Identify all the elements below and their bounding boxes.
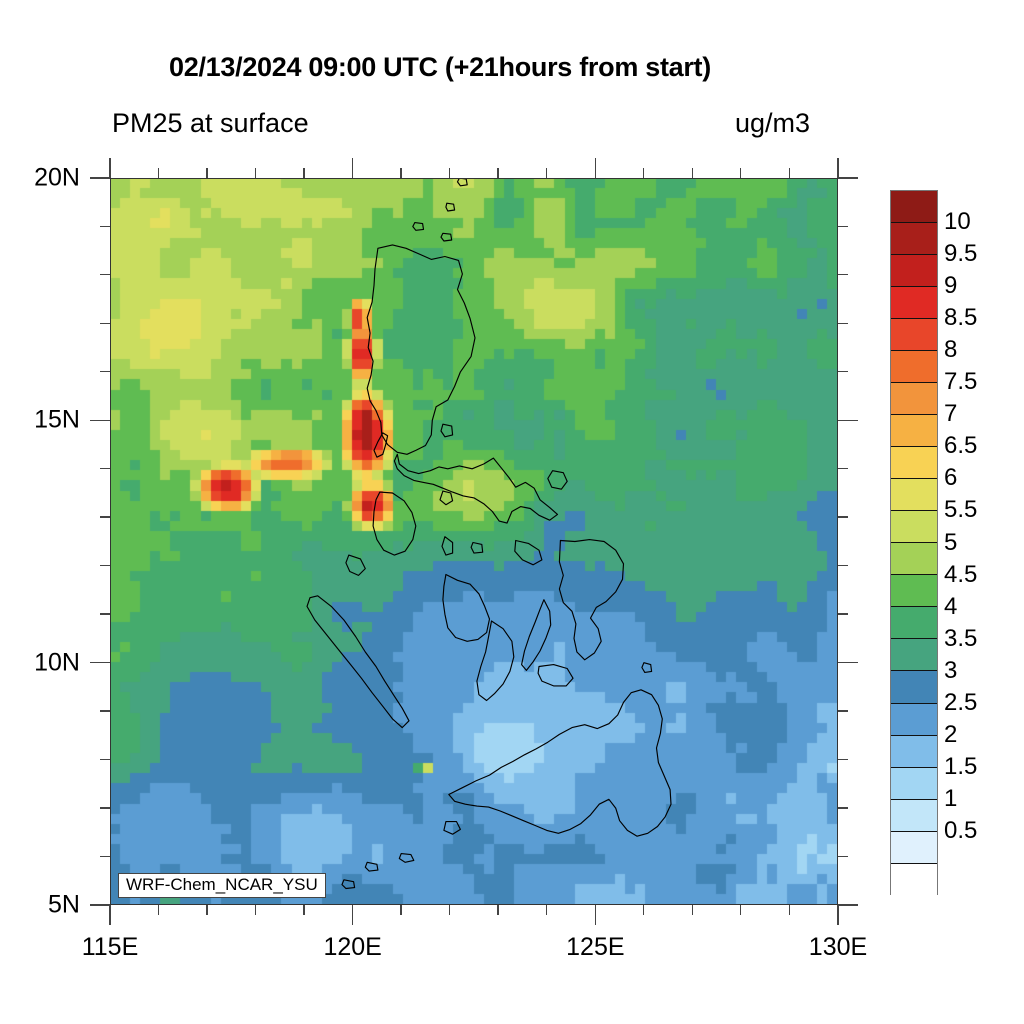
x-axis-tick [255, 905, 256, 915]
y-axis-tick [100, 759, 110, 760]
x-axis-tick-top [109, 158, 111, 178]
colorbar-band [891, 639, 937, 671]
colorbar-band [891, 447, 937, 479]
x-axis-tick-top [449, 168, 450, 178]
colorbar-tick-label: 6.5 [944, 432, 977, 460]
colorbar-band [891, 543, 937, 575]
y-axis-tick [100, 323, 110, 324]
map-plot-area[interactable]: BACLMABT [110, 178, 838, 905]
x-axis-tick [740, 905, 741, 915]
x-axis-tick-top [546, 168, 547, 178]
y-axis-label: 5N [10, 891, 80, 920]
colorbar-band [891, 511, 937, 543]
y-axis-tick-right [838, 468, 848, 469]
x-axis-label: 115E [82, 933, 139, 962]
y-axis-tick [100, 710, 110, 711]
x-axis-tick [109, 905, 111, 925]
colorbar-band [891, 191, 937, 223]
colorbar-tick-label: 1 [944, 785, 957, 813]
x-axis-tick [158, 905, 159, 915]
x-axis-tick-top [789, 168, 790, 178]
y-axis-tick-right [838, 565, 848, 566]
colorbar-tick-label: 5.5 [944, 496, 977, 524]
x-axis-tick-top [206, 168, 207, 178]
y-axis-tick-right [838, 516, 848, 517]
y-axis-tick [100, 516, 110, 517]
colorbar-band [891, 351, 937, 383]
x-axis-tick [789, 905, 790, 915]
y-axis-tick-right [838, 371, 848, 372]
y-axis-tick [90, 904, 110, 906]
colorbar-band [891, 800, 937, 832]
y-axis-label: 10N [10, 648, 80, 677]
colorbar-band [891, 223, 937, 255]
x-axis-tick [497, 905, 498, 915]
y-axis-tick [90, 420, 110, 422]
colorbar-tick-label: 2.5 [944, 689, 977, 717]
x-axis-tick-top [740, 168, 741, 178]
units-label: ug/m3 [735, 108, 810, 139]
colorbar-band [891, 607, 937, 639]
x-axis-label: 130E [809, 933, 867, 962]
x-axis-tick [206, 905, 207, 915]
colorbar-band [891, 415, 937, 447]
colorbar-tick-label: 9.5 [944, 240, 977, 268]
y-axis-tick-right [838, 662, 858, 664]
x-axis-tick-top [255, 168, 256, 178]
y-axis-tick [100, 856, 110, 857]
colorbar-band [891, 864, 937, 896]
x-axis-label: 120E [323, 933, 381, 962]
x-axis-tick-top [158, 168, 159, 178]
colorbar-tick-label: 5 [944, 529, 957, 557]
colorbar-band [891, 479, 937, 511]
y-axis-tick [100, 468, 110, 469]
colorbar-tick-label: 3.5 [944, 625, 977, 653]
y-axis-tick-right [838, 226, 848, 227]
colorbar-tick-label: 3 [944, 657, 957, 685]
colorbar-band [891, 319, 937, 351]
x-axis-tick-top [497, 168, 498, 178]
variable-label: PM25 at surface [112, 108, 309, 139]
x-axis-tick-top [692, 168, 693, 178]
y-axis-tick-right [838, 807, 848, 808]
colorbar-band [891, 736, 937, 768]
colorbar-band [891, 704, 937, 736]
y-axis-tick [100, 274, 110, 275]
x-axis-tick [400, 905, 401, 915]
page-title: 02/13/2024 09:00 UTC (+21hours from star… [0, 52, 880, 83]
y-axis-tick-right [838, 420, 858, 422]
y-axis-tick [100, 613, 110, 614]
y-axis-tick [90, 662, 110, 664]
y-axis-tick [100, 371, 110, 372]
x-axis-tick [303, 905, 304, 915]
x-axis-tick [837, 905, 839, 925]
y-axis-tick-right [838, 613, 848, 614]
model-watermark: WRF-Chem_NCAR_YSU [118, 873, 326, 898]
x-axis-tick-top [643, 168, 644, 178]
colorbar-tick-label: 8.5 [944, 304, 977, 332]
colorbar-band [891, 255, 937, 287]
station-marker-layer: BACLMABT [110, 178, 838, 905]
colorbar-tick-label: 4 [944, 593, 957, 621]
x-axis-label: 125E [566, 933, 624, 962]
y-axis-tick [100, 565, 110, 566]
colorbar-tick-label: 9 [944, 272, 957, 300]
colorbar-band [891, 383, 937, 415]
colorbar-tick-label: 1.5 [944, 753, 977, 781]
x-axis-tick [449, 905, 450, 915]
colorbar-tick-label: 0.5 [944, 817, 977, 845]
y-axis-tick-right [838, 904, 858, 906]
colorbar-band [891, 671, 937, 703]
colorbar-tick-label: 8 [944, 336, 957, 364]
colorbar-tick-label: 7.5 [944, 368, 977, 396]
y-axis-tick [90, 177, 110, 179]
y-axis-tick-right [838, 177, 858, 179]
x-axis-tick-top [595, 158, 597, 178]
x-axis-tick-top [303, 168, 304, 178]
colorbar-tick-label: 6 [944, 464, 957, 492]
x-axis-tick [643, 905, 644, 915]
colorbar [890, 190, 938, 895]
y-axis-tick [100, 226, 110, 227]
y-axis-tick-right [838, 856, 848, 857]
x-axis-tick [692, 905, 693, 915]
y-axis-tick-right [838, 274, 848, 275]
y-axis-label: 20N [10, 164, 80, 193]
x-axis-tick [352, 905, 354, 925]
colorbar-tick-label: 10 [944, 208, 971, 236]
colorbar-tick-label: 7 [944, 400, 957, 428]
y-axis-label: 15N [10, 406, 80, 435]
x-axis-tick-top [352, 158, 354, 178]
colorbar-tick-label: 4.5 [944, 561, 977, 589]
colorbar-band [891, 575, 937, 607]
x-axis-tick-top [400, 168, 401, 178]
x-axis-tick-top [837, 158, 839, 178]
x-axis-tick [546, 905, 547, 915]
colorbar-band [891, 832, 937, 864]
colorbar-band [891, 287, 937, 319]
y-axis-tick-right [838, 710, 848, 711]
colorbar-tick-label: 2 [944, 721, 957, 749]
y-axis-tick [100, 807, 110, 808]
y-axis-tick-right [838, 323, 848, 324]
x-axis-tick [595, 905, 597, 925]
y-axis-tick-right [838, 759, 848, 760]
colorbar-band [891, 768, 937, 800]
